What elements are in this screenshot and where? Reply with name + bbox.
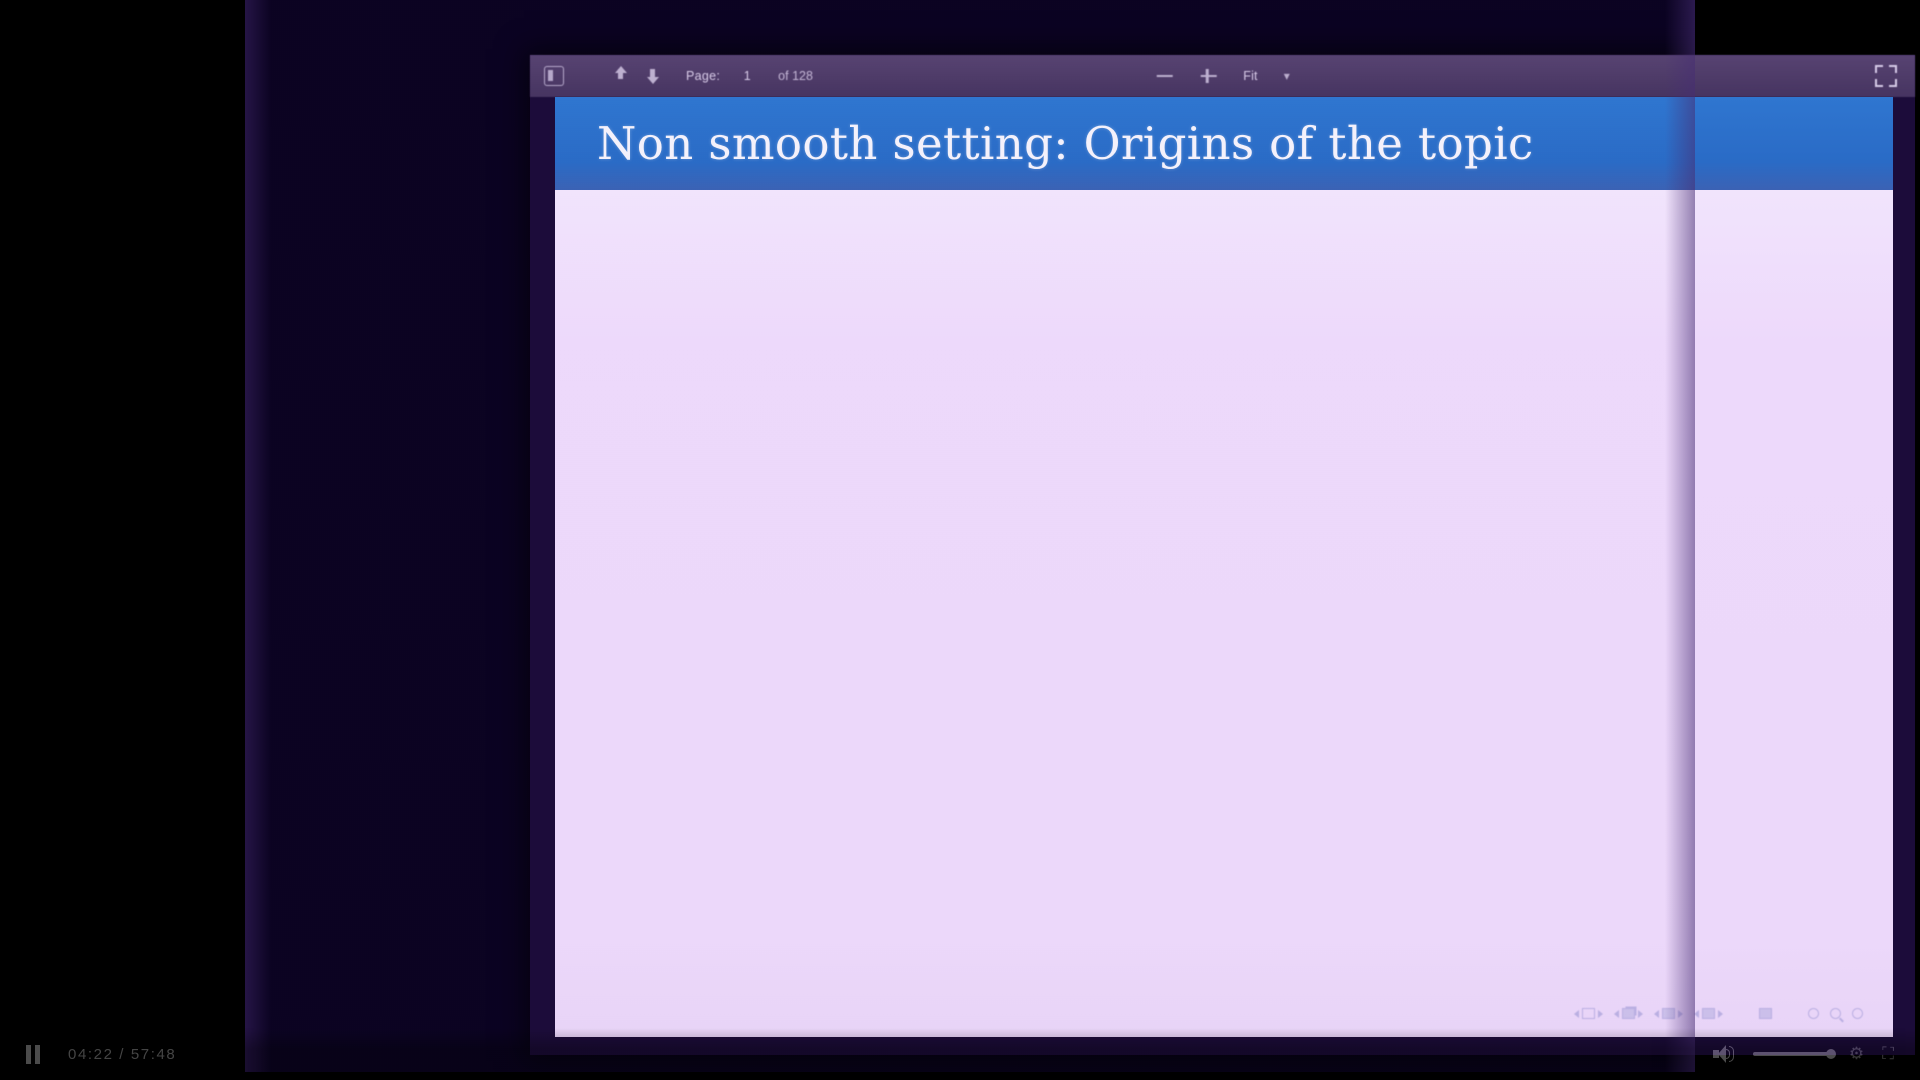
pdf-viewer-window: Page: of 128 Fit ▾ Non smooth setting: O… [530,55,1915,1055]
slide-canvas[interactable]: Non smooth setting: Origins of the topic [555,97,1893,1037]
next-section-icon[interactable] [1718,1010,1723,1018]
subsection-navigation[interactable] [1654,1008,1683,1019]
volume-high-icon[interactable] [1713,1045,1735,1063]
next-page-button[interactable] [642,65,664,87]
expand-icon[interactable]: ⛶ [1882,1044,1894,1064]
sidebar-toggle-icon[interactable] [544,66,564,86]
next-slide-icon[interactable] [1598,1010,1603,1018]
player-controls-right: ⚙ ⛶ [1713,1044,1894,1064]
next-subsection-icon[interactable] [1678,1010,1683,1018]
section-icon[interactable] [1702,1008,1715,1019]
video-player[interactable]: Page: of 128 Fit ▾ Non smooth setting: O… [0,0,1920,1080]
prev-slide-icon[interactable] [1574,1010,1579,1018]
slide-icon[interactable] [1582,1008,1595,1019]
prev-frame-icon[interactable] [1614,1010,1619,1018]
zoom-out-icon[interactable] [1155,67,1173,85]
frame-icon[interactable] [1622,1008,1635,1019]
previous-page-button[interactable] [610,65,632,87]
page-total-label: of 128 [778,69,813,83]
page-number-input[interactable] [730,69,764,83]
beamer-navigation-bar[interactable] [1574,1008,1863,1019]
slide-body [555,190,1893,1037]
frame-navigation[interactable] [1614,1008,1643,1019]
back-circle-icon[interactable] [1808,1008,1819,1019]
slide-navigation[interactable] [1574,1008,1603,1019]
settings-gear-icon[interactable]: ⚙ [1849,1044,1864,1064]
next-frame-icon[interactable] [1638,1010,1643,1018]
slide-title: Non smooth setting: Origins of the topic [597,117,1534,170]
fullscreen-icon[interactable] [1875,65,1897,87]
search-icon[interactable] [1830,1008,1841,1019]
subsection-icon[interactable] [1662,1008,1675,1019]
forward-circle-icon[interactable] [1852,1008,1863,1019]
doc-navigation-icon[interactable] [1759,1008,1772,1019]
prev-subsection-icon[interactable] [1654,1010,1659,1018]
zoom-level-label[interactable]: Fit [1243,69,1258,83]
zoom-controls: Fit ▾ [1155,67,1290,85]
page-label: Page: [686,69,720,83]
pause-button[interactable] [26,1045,42,1064]
zoom-in-icon[interactable] [1199,67,1217,85]
time-display: 04:22 / 57:48 [68,1046,176,1063]
prev-section-icon[interactable] [1694,1010,1699,1018]
screen-capture-area: Page: of 128 Fit ▾ Non smooth setting: O… [245,0,1695,1072]
chevron-down-icon[interactable]: ▾ [1284,69,1290,83]
section-navigation[interactable] [1694,1008,1723,1019]
player-controls-bar[interactable]: 04:22 / 57:48 ⚙ ⛶ [0,1028,1920,1080]
volume-slider[interactable] [1753,1052,1831,1056]
slide-headline-bar: Non smooth setting: Origins of the topic [555,97,1893,190]
pdf-toolbar: Page: of 128 Fit ▾ [530,55,1915,97]
